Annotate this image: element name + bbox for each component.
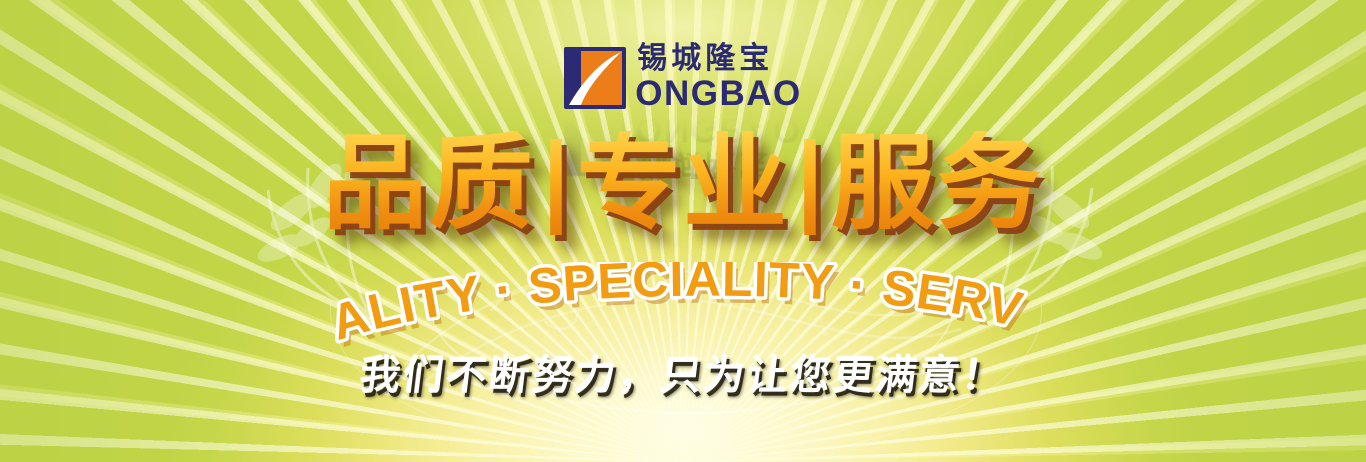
company-logo[interactable]: 锡城隆宝 ONGBAO bbox=[0, 44, 1366, 111]
headline-separator-1: | bbox=[535, 122, 577, 244]
headline-separator-2: | bbox=[789, 122, 831, 244]
headline-part-1: 品质 bbox=[323, 122, 535, 244]
tagline-text: 我们不断努力，只为让您更满意！ bbox=[0, 355, 1366, 397]
logo-company-en: ONGBAO bbox=[635, 76, 802, 111]
headline-slogan: 品质|专业|服务 bbox=[0, 131, 1366, 235]
headline-part-3: 服务 bbox=[831, 122, 1043, 244]
promotional-banner: 锡城隆宝 ONGBAO 锡城隆宝 ONGBAO 品质|专业|服务 bbox=[0, 0, 1366, 462]
headline-part-2: 专业 bbox=[577, 122, 789, 244]
svg-text:QUALITY · SPECIALITY · SERVICE: QUALITY · SPECIALITY · SERVICE bbox=[0, 262, 1029, 348]
english-slogan-text: QUALITY · SPECIALITY · SERVICE bbox=[0, 262, 1029, 348]
sail-logo-mark bbox=[564, 47, 626, 109]
english-slogan: QUALITY · SPECIALITY · SERVICE QUALITY ·… bbox=[0, 262, 1366, 348]
logo-sail-shape bbox=[566, 49, 624, 107]
logo-company-cn: 锡城隆宝 bbox=[637, 44, 802, 74]
